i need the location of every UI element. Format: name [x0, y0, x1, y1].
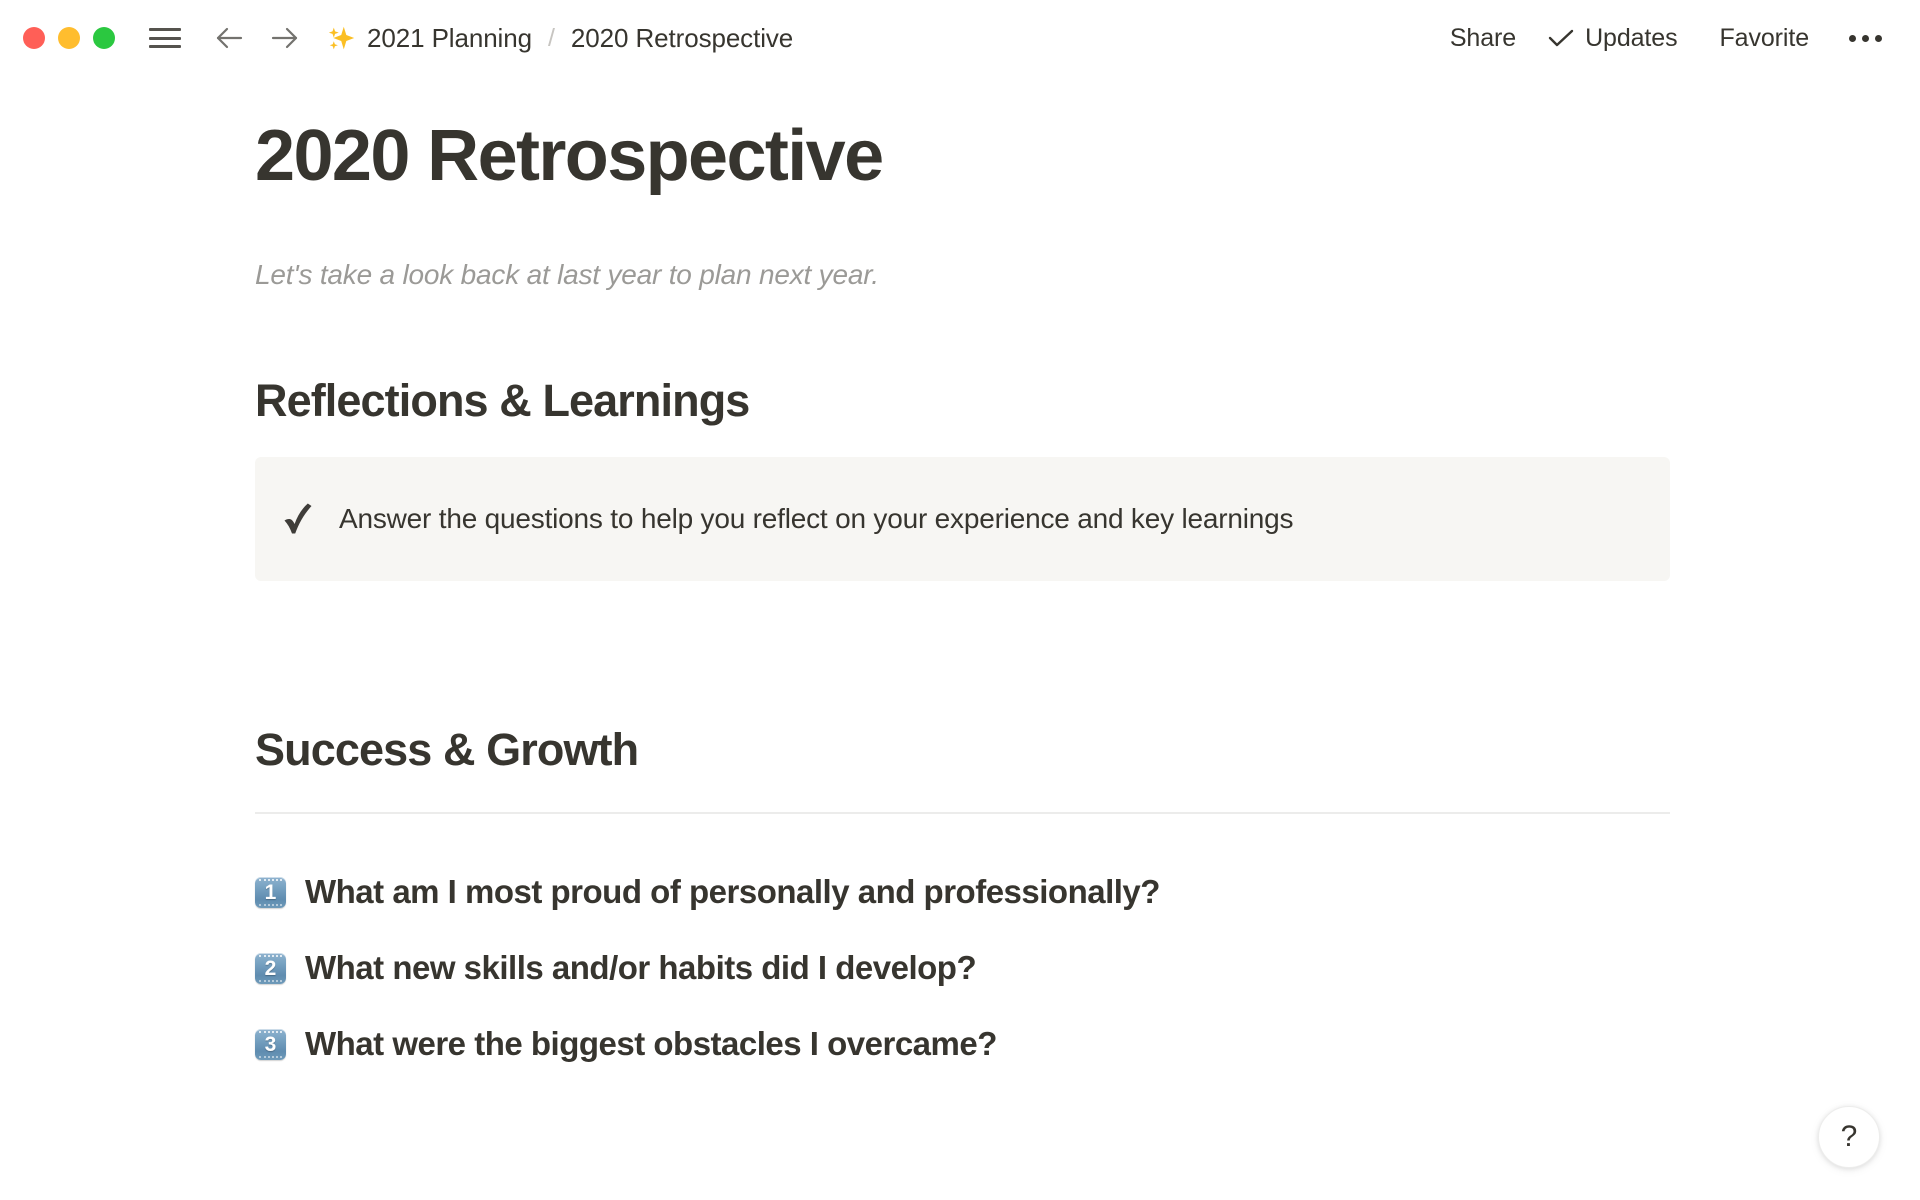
favorite-button[interactable]: Favorite	[1709, 18, 1819, 59]
ellipsis-dot	[1862, 35, 1869, 42]
page-subtitle[interactable]: Let's take a look back at last year to p…	[255, 259, 1920, 291]
keycap-number-one-emoji: 1	[255, 877, 286, 908]
page-content: 2020 Retrospective Let's take a look bac…	[0, 76, 1920, 1082]
question-list: 1 What am I most proud of personally and…	[0, 854, 1920, 1082]
sparkles-glyph	[327, 24, 356, 53]
breadcrumb-current[interactable]: 2020 Retrospective	[571, 23, 793, 54]
keycap-digit: 2	[265, 958, 277, 979]
hamburger-line	[149, 45, 181, 48]
callout-text: Answer the questions to help you reflect…	[339, 503, 1293, 535]
section-divider	[255, 812, 1670, 814]
section-heading-reflections[interactable]: Reflections & Learnings	[255, 375, 1920, 427]
close-window-button[interactable]	[23, 27, 45, 49]
window-titlebar: 2021 Planning / 2020 Retrospective Share…	[0, 0, 1920, 76]
share-button[interactable]: Share	[1440, 18, 1526, 59]
breadcrumb-separator: /	[548, 24, 555, 53]
page-title[interactable]: 2020 Retrospective	[255, 117, 1920, 196]
hamburger-line	[149, 37, 181, 40]
hamburger-line	[149, 28, 181, 31]
help-button[interactable]: ?	[1818, 1106, 1880, 1168]
callout-block[interactable]: Answer the questions to help you reflect…	[255, 457, 1670, 581]
list-item[interactable]: 2 What new skills and/or habits did I de…	[255, 930, 1920, 1006]
arrow-left-icon[interactable]	[213, 22, 245, 54]
maximize-window-button[interactable]	[93, 27, 115, 49]
keycap-number-three-emoji: 3	[255, 1029, 286, 1060]
keycap-digit: 1	[265, 882, 277, 903]
ellipsis-icon[interactable]	[1841, 25, 1890, 52]
navigation-arrows	[213, 22, 301, 54]
traffic-light-controls	[23, 27, 115, 49]
check-mark-glyph	[281, 502, 313, 536]
keycap-number-two-emoji: 2	[255, 953, 286, 984]
section-heading-success[interactable]: Success & Growth	[255, 724, 1920, 776]
sparkles-emoji	[327, 24, 356, 53]
minimize-window-button[interactable]	[58, 27, 80, 49]
question-text: What new skills and/or habits did I deve…	[305, 949, 976, 987]
list-item[interactable]: 1 What am I most proud of personally and…	[255, 854, 1920, 930]
question-text: What were the biggest obstacles I overca…	[305, 1025, 997, 1063]
arrow-right-icon[interactable]	[269, 22, 301, 54]
breadcrumb: 2021 Planning / 2020 Retrospective	[327, 23, 793, 54]
updates-label: Updates	[1585, 18, 1687, 59]
question-mark-icon: ?	[1841, 1122, 1858, 1152]
heavy-check-mark-emoji	[281, 502, 313, 536]
breadcrumb-parent[interactable]: 2021 Planning	[367, 23, 532, 54]
ellipsis-dot	[1875, 35, 1882, 42]
keycap-digit: 3	[265, 1034, 277, 1055]
check-icon	[1548, 28, 1574, 48]
question-text: What am I most proud of personally and p…	[305, 873, 1160, 911]
hamburger-menu-icon[interactable]	[149, 26, 181, 50]
list-item[interactable]: 3 What were the biggest obstacles I over…	[255, 1006, 1920, 1082]
ellipsis-dot	[1849, 35, 1856, 42]
updates-button[interactable]: Updates	[1548, 18, 1687, 59]
titlebar-actions: Share Updates Favorite	[1440, 18, 1890, 59]
